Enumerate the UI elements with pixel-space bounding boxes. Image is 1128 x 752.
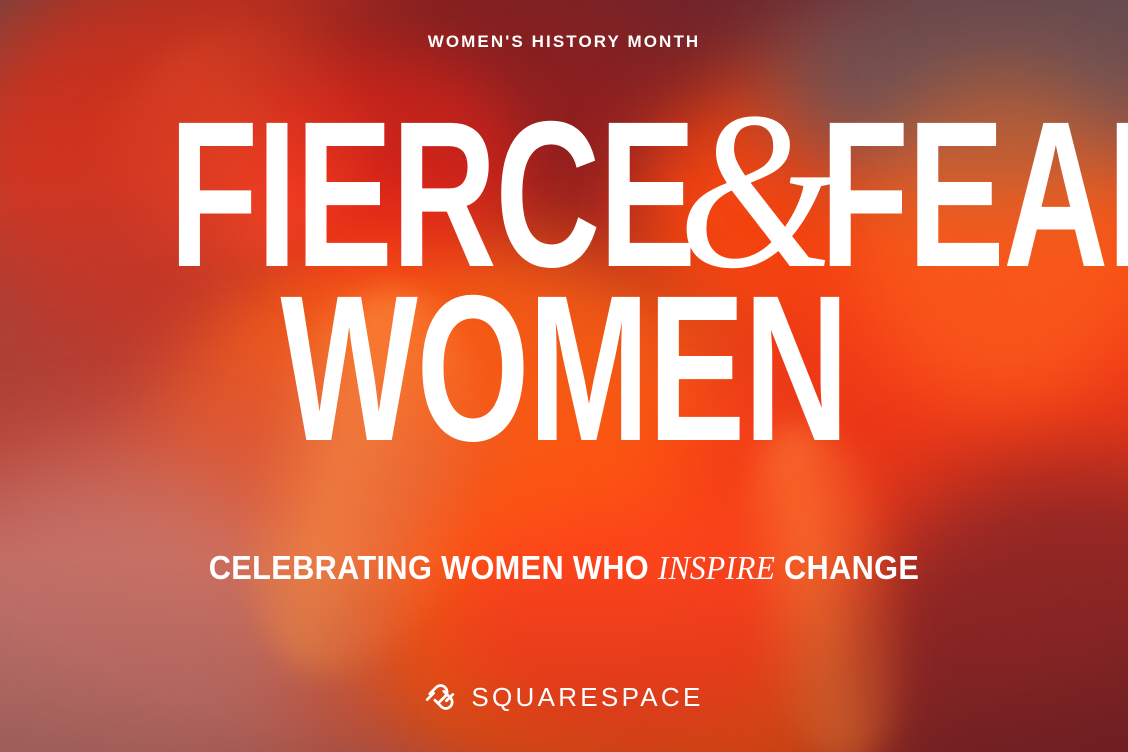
subtitle-before: CELEBRATING WOMEN WHO <box>209 549 658 586</box>
subtitle: CELEBRATING WOMEN WHO INSPIRE CHANGE <box>0 549 1128 588</box>
headline-line-2: WOMEN <box>169 286 959 452</box>
subtitle-after: CHANGE <box>775 549 919 586</box>
poster-content: WOMEN'S HISTORY MONTH FIERCE&FEARLESS WO… <box>0 0 1128 752</box>
headline-word-fearless: FEARLESS <box>820 79 1128 311</box>
subtitle-emphasis: INSPIRE <box>658 550 775 587</box>
eyebrow-label: WOMEN'S HISTORY MONTH <box>428 32 701 52</box>
brand-lockup: SQUARESPACE <box>0 681 1128 713</box>
page-title: FIERCE&FEARLESS WOMEN <box>0 100 1128 452</box>
subtitle-inner: CELEBRATING WOMEN WHO INSPIRE CHANGE <box>209 549 920 588</box>
promo-poster: WOMEN'S HISTORY MONTH FIERCE&FEARLESS WO… <box>0 0 1128 752</box>
squarespace-wordmark: SQUARESPACE <box>471 682 703 713</box>
squarespace-logomark-icon <box>424 681 456 713</box>
